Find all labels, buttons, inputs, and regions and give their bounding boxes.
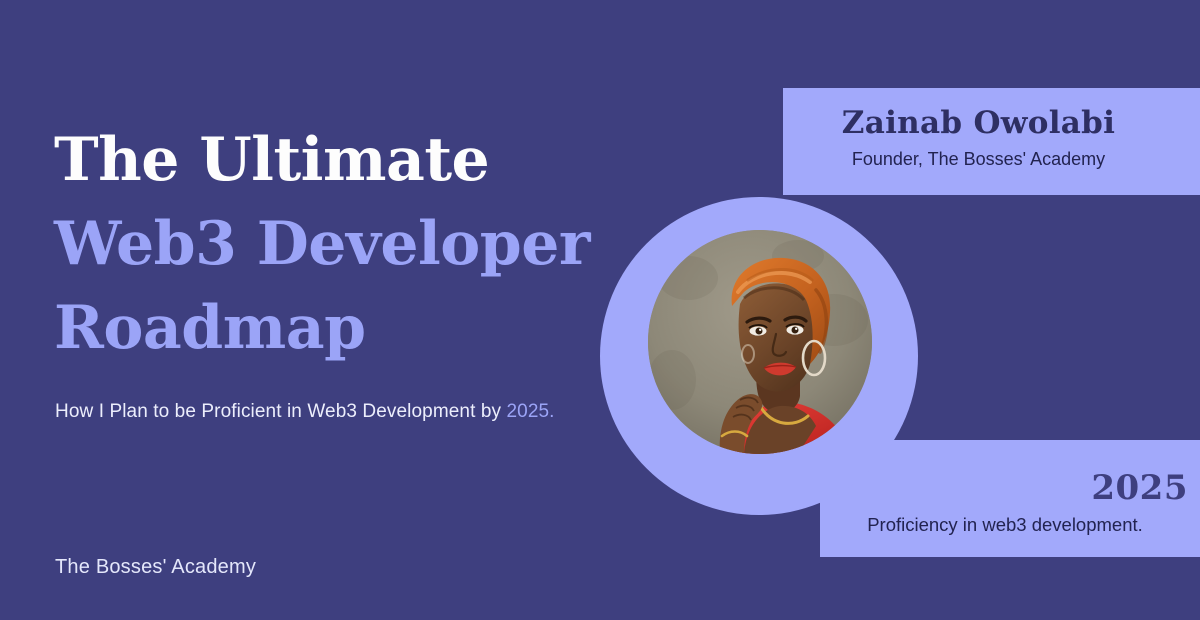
headline-line-2: Web3 Developer	[54, 202, 614, 286]
speaker-card: Zainab Owolabi Founder, The Bosses' Acad…	[783, 88, 1200, 195]
goal-year: 2025	[1091, 468, 1188, 508]
headline-line-1: The Ultimate	[54, 118, 614, 202]
subtitle-text: How I Plan to be Proficient in Web3 Deve…	[55, 401, 506, 422]
headline-line-3: Roadmap	[54, 286, 614, 370]
subtitle: How I Plan to be Proficient in Web3 Deve…	[55, 396, 575, 427]
headline-block: The Ultimate Web3 Developer Roadmap	[54, 118, 614, 370]
speaker-role: Founder, The Bosses' Academy	[783, 147, 1174, 171]
slide-canvas: The Ultimate Web3 Developer Roadmap How …	[0, 0, 1200, 620]
subtitle-accent-year: 2025.	[506, 401, 554, 422]
footer-brand: The Bosses' Academy	[55, 556, 256, 579]
goal-caption: Proficiency in web3 development.	[820, 512, 1190, 538]
speaker-name: Zainab Owolabi	[783, 104, 1174, 142]
portrait-photo	[648, 230, 872, 454]
